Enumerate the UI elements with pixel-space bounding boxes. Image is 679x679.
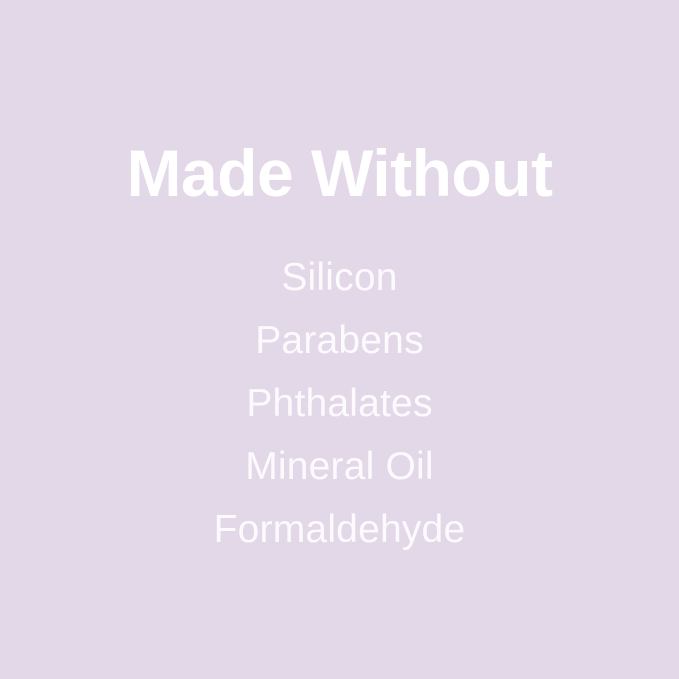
list-item: Formaldehyde — [0, 498, 679, 561]
list-item: Parabens — [0, 309, 679, 372]
page-title: Made Without — [0, 140, 679, 206]
list-item: Phthalates — [0, 372, 679, 435]
list-item: Mineral Oil — [0, 435, 679, 498]
list-item: Silicon — [0, 246, 679, 309]
made-without-card: Made Without Silicon Parabens Phthalates… — [0, 0, 679, 679]
excluded-ingredients-list: Silicon Parabens Phthalates Mineral Oil … — [0, 246, 679, 561]
